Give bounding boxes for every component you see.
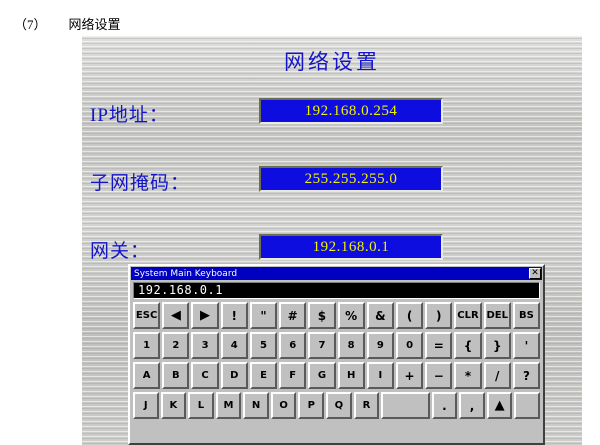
key-p[interactable]: P	[298, 392, 324, 419]
key-l[interactable]: L	[188, 392, 214, 419]
key-6[interactable]: 6	[279, 332, 306, 359]
key-brace-open[interactable]: {	[454, 332, 481, 359]
key-a[interactable]: A	[133, 362, 160, 389]
keyboard-display-field[interactable]: 192.168.0.1	[133, 282, 540, 299]
key-paren-open[interactable]: (	[396, 302, 423, 329]
key-paren-close[interactable]: )	[425, 302, 452, 329]
key-3[interactable]: 3	[191, 332, 218, 359]
key-2[interactable]: 2	[162, 332, 189, 359]
key-brace-close[interactable]: }	[484, 332, 511, 359]
key-ampersand[interactable]: &	[367, 302, 394, 329]
key-equals[interactable]: =	[425, 332, 452, 359]
label-gateway: 网关：	[90, 236, 150, 263]
input-subnet-mask[interactable]: 255.255.255.0	[259, 166, 443, 192]
keyboard-row: 1234567890={}'	[133, 332, 540, 359]
keyboard-titlebar[interactable]: System Main Keyboard ✕	[131, 267, 542, 280]
key-j[interactable]: J	[133, 392, 159, 419]
key-hash[interactable]: #	[279, 302, 306, 329]
key-o[interactable]: O	[271, 392, 297, 419]
key-minus[interactable]: −	[425, 362, 452, 389]
keyboard-title: System Main Keyboard	[131, 269, 237, 279]
key-m[interactable]: M	[216, 392, 242, 419]
key-h[interactable]: H	[338, 362, 365, 389]
key-5[interactable]: 5	[250, 332, 277, 359]
key-question[interactable]: ?	[513, 362, 540, 389]
key-bs[interactable]: BS	[513, 302, 540, 329]
key-f[interactable]: F	[279, 362, 306, 389]
key-q[interactable]: Q	[326, 392, 352, 419]
key-exclamation[interactable]: !	[221, 302, 248, 329]
field-row-subnet-mask: 子网掩码： 255.255.255.0	[82, 166, 582, 200]
key-slash[interactable]: /	[484, 362, 511, 389]
key-7[interactable]: 7	[308, 332, 335, 359]
hmi-network-settings-panel: 网络设置 IP地址： 192.168.0.254 子网掩码： 255.255.2…	[82, 36, 582, 445]
figure-caption: （7）网络设置	[14, 14, 121, 33]
key-esc[interactable]: ESC	[133, 302, 160, 329]
key-k[interactable]: K	[161, 392, 187, 419]
value-subnet-mask: 255.255.255.0	[305, 172, 398, 187]
key-asterisk[interactable]: *	[454, 362, 481, 389]
keyboard-row: ESC◀▶!"#$%&()CLRDELBS	[133, 302, 540, 329]
key-4[interactable]: 4	[221, 332, 248, 359]
key-plus[interactable]: +	[396, 362, 423, 389]
key-d[interactable]: D	[221, 362, 248, 389]
key-percent[interactable]: %	[338, 302, 365, 329]
input-gateway[interactable]: 192.168.0.1	[259, 234, 443, 260]
key-apostrophe[interactable]: '	[513, 332, 540, 359]
key-blank[interactable]	[514, 392, 540, 419]
key-right-arrow[interactable]: ▶	[191, 302, 218, 329]
key-del[interactable]: DEL	[484, 302, 511, 329]
label-subnet-mask: 子网掩码：	[90, 168, 190, 195]
key-n[interactable]: N	[243, 392, 269, 419]
field-row-gateway: 网关： 192.168.0.1	[82, 234, 582, 268]
key-comma[interactable]: ,	[459, 392, 485, 419]
key-r[interactable]: R	[354, 392, 380, 419]
label-ip-address: IP地址：	[90, 100, 169, 127]
caption-number: （7）	[14, 17, 47, 32]
key-up-arrow[interactable]: ▲	[487, 392, 513, 419]
input-ip-address[interactable]: 192.168.0.254	[259, 98, 443, 124]
system-main-keyboard-dialog: System Main Keyboard ✕ 192.168.0.1 ESC◀▶…	[128, 264, 545, 445]
keyboard-row: ABCDEFGHI+−*/?	[133, 362, 540, 389]
key-period[interactable]: .	[432, 392, 458, 419]
caption-text: 网络设置	[69, 17, 121, 32]
keyboard-keypad: ESC◀▶!"#$%&()CLRDELBS1234567890={}'ABCDE…	[130, 302, 543, 419]
value-gateway: 192.168.0.1	[313, 240, 390, 255]
key-c[interactable]: C	[191, 362, 218, 389]
keyboard-display-value: 192.168.0.1	[134, 284, 223, 297]
key-8[interactable]: 8	[338, 332, 365, 359]
key-space[interactable]	[381, 392, 429, 419]
key-dollar[interactable]: $	[308, 302, 335, 329]
key-g[interactable]: G	[308, 362, 335, 389]
key-e[interactable]: E	[250, 362, 277, 389]
key-i[interactable]: I	[367, 362, 394, 389]
key-b[interactable]: B	[162, 362, 189, 389]
value-ip-address: 192.168.0.254	[305, 104, 398, 119]
page-title: 网络设置	[82, 46, 582, 76]
key-quote[interactable]: "	[250, 302, 277, 329]
key-0[interactable]: 0	[396, 332, 423, 359]
field-row-ip-address: IP地址： 192.168.0.254	[82, 98, 582, 132]
key-left-arrow[interactable]: ◀	[162, 302, 189, 329]
keyboard-row: JKLMNOPQR.,▲	[133, 392, 540, 419]
key-1[interactable]: 1	[133, 332, 160, 359]
key-clr[interactable]: CLR	[454, 302, 481, 329]
key-9[interactable]: 9	[367, 332, 394, 359]
close-icon[interactable]: ✕	[529, 268, 541, 279]
